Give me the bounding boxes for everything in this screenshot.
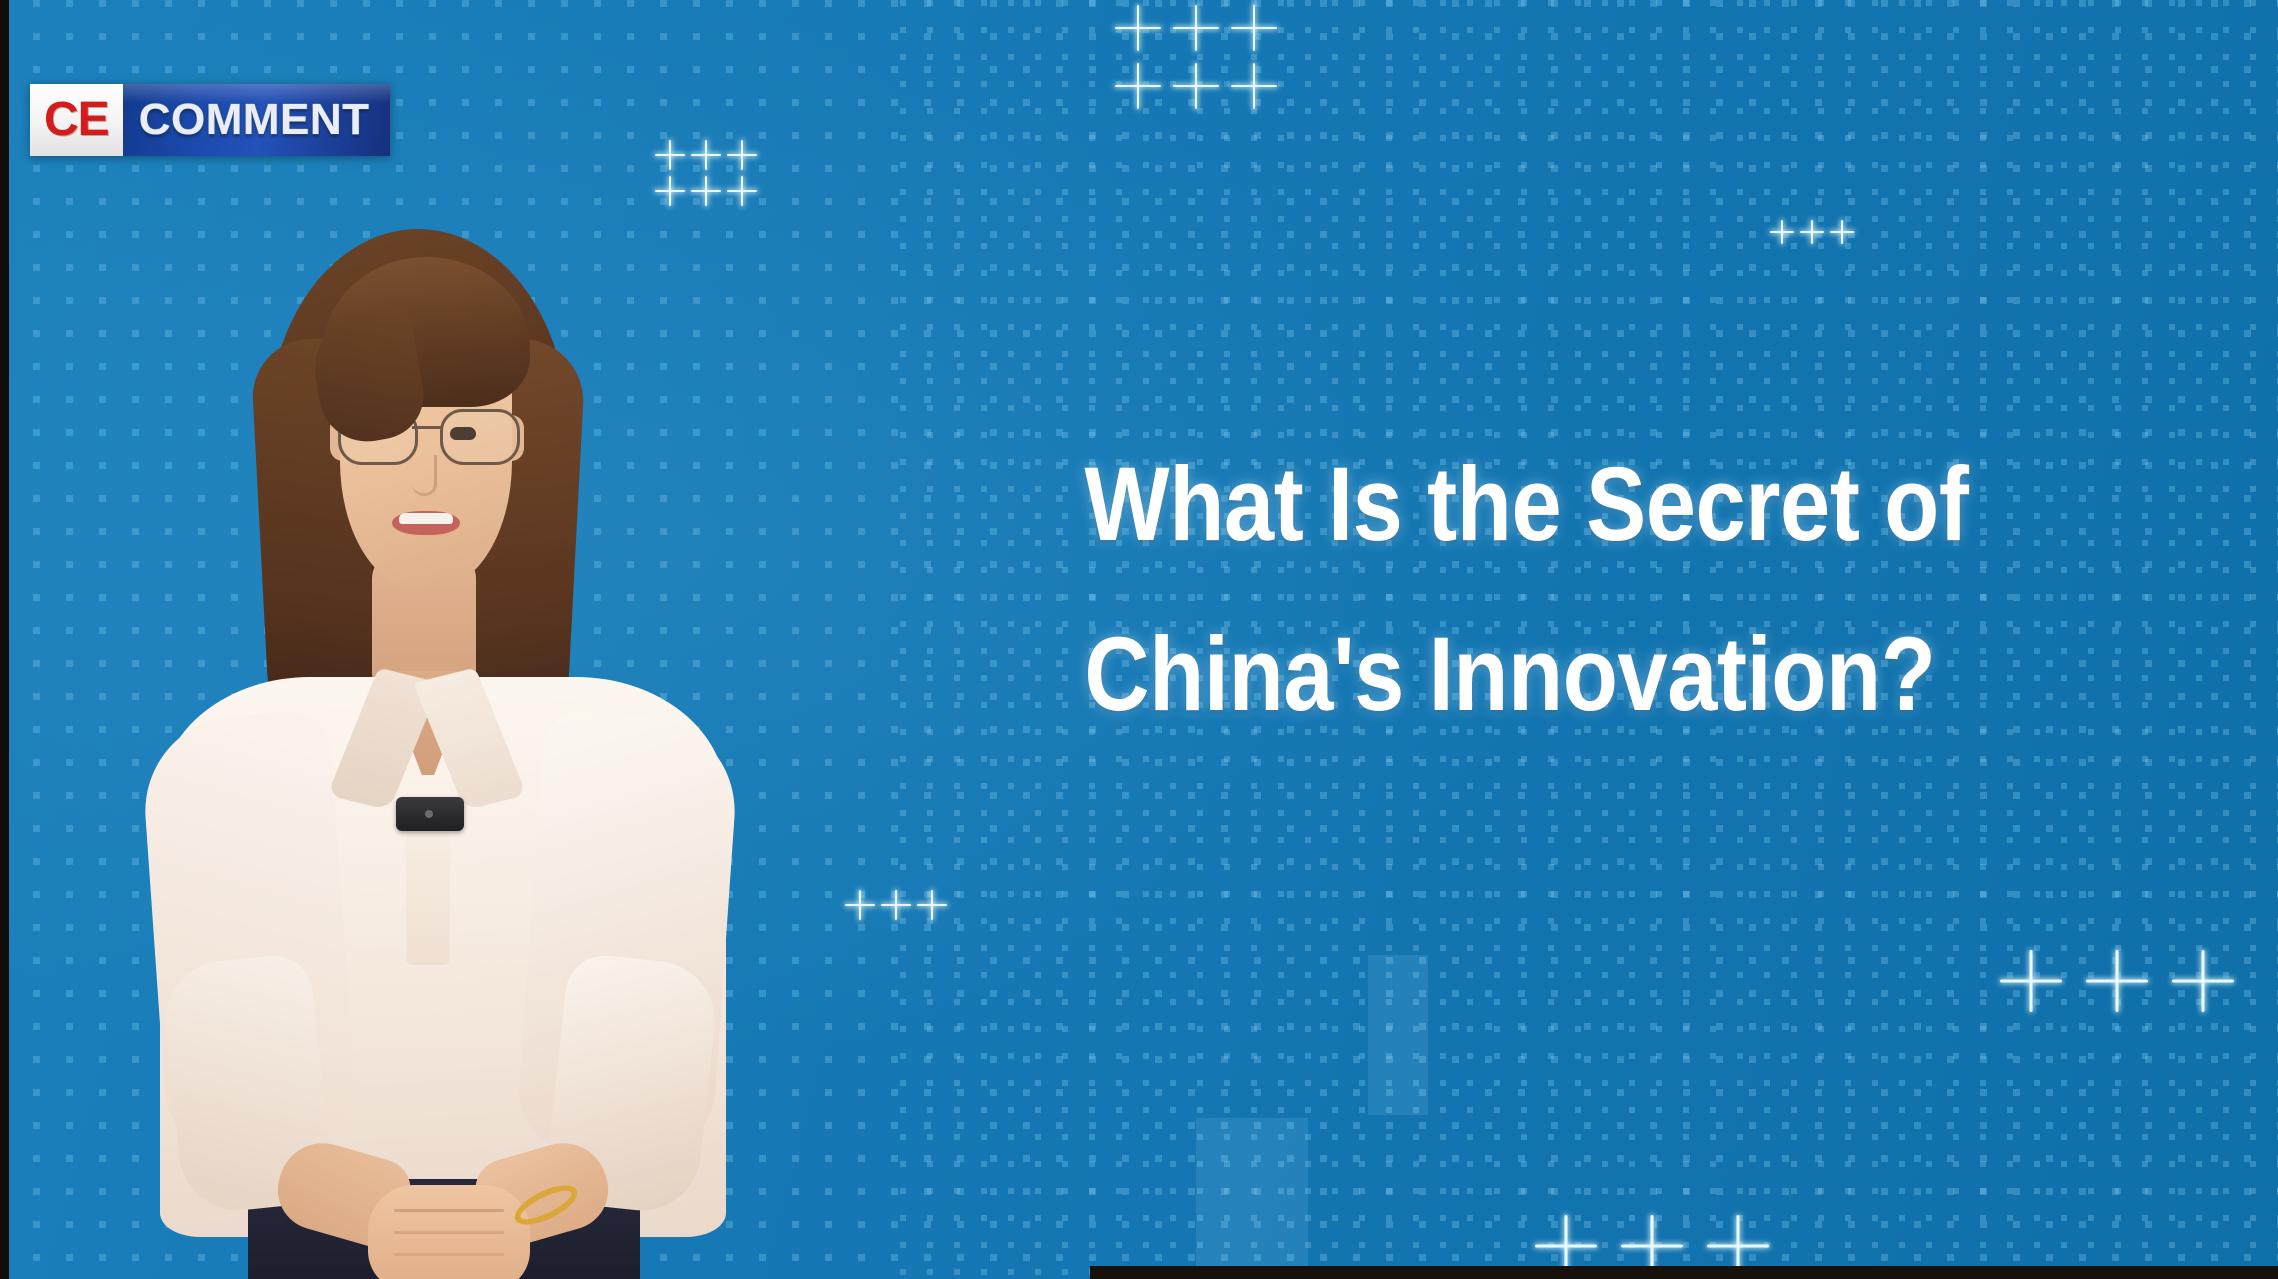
teeth — [399, 513, 453, 524]
lens-right — [440, 409, 520, 465]
headline: What Is the Secret of China's Innovation… — [1084, 420, 1875, 760]
logo-mark: CE — [30, 84, 123, 156]
logo-wordmark-text: COMMENT — [139, 98, 370, 142]
presenter-figure — [120, 219, 760, 1279]
headline-line-2: China's Innovation? — [1084, 590, 1875, 760]
headline-line-1: What Is the Secret of — [1084, 420, 1875, 590]
frame-edge-bottom-right — [1090, 1266, 2278, 1279]
clasped-hands — [368, 1185, 530, 1279]
mouth — [392, 511, 460, 535]
block-tall — [1368, 955, 1428, 1115]
video-frame: CE COMMENT What Is the Secret of China's… — [0, 0, 2278, 1279]
block-wide — [1196, 1118, 1308, 1279]
logo-wordmark: COMMENT — [123, 84, 390, 156]
lapel-microphone — [396, 797, 464, 831]
microphone-dot — [425, 810, 433, 818]
logo-mark-text: CE — [44, 96, 109, 144]
glasses-bridge — [412, 426, 442, 429]
channel-logo: CE COMMENT — [30, 84, 390, 156]
frame-edge-left — [0, 0, 9, 1279]
